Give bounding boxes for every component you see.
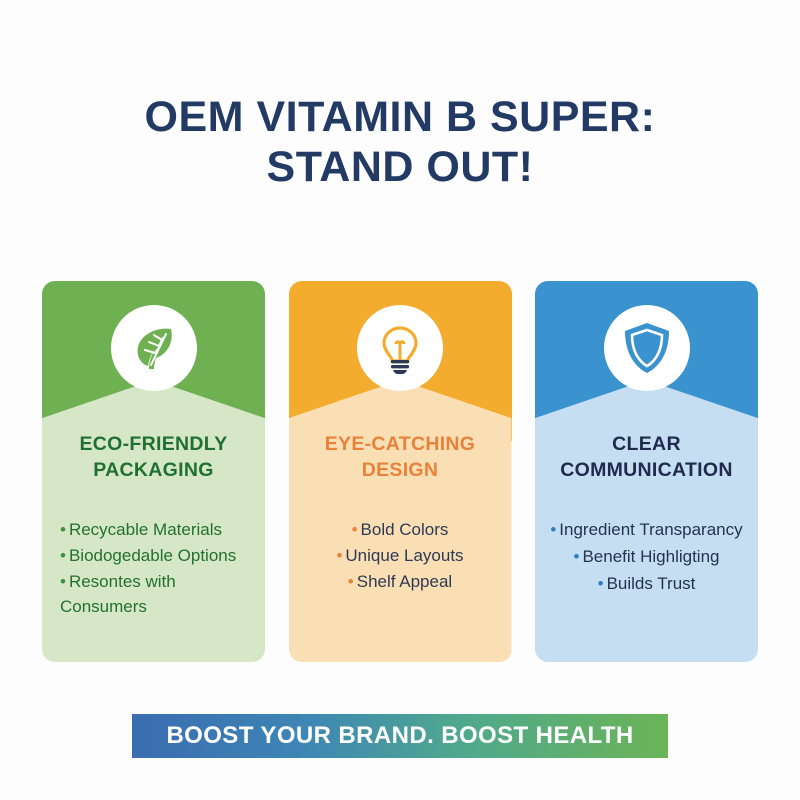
bullet-dot-icon: • [352, 520, 358, 539]
card-title-communication-line-1: Clear [612, 433, 681, 455]
bullet-dot-icon: • [574, 547, 580, 566]
card-bullet-list-design: •Bold Colors •Unique Layouts •Shelf Appe… [289, 517, 512, 595]
footer-cta-banner: Boost Your Brand. Boost Health [132, 714, 668, 758]
card-bullet-list-communication: •Ingredient Transparancy •Benefit Highli… [535, 517, 758, 598]
list-item: •Shelf Appeal [301, 569, 500, 594]
lightbulb-icon [357, 305, 443, 391]
card-title-eco-line-1: Eco-Friendly [79, 433, 227, 455]
bullet-text: Shelf Appeal [357, 572, 452, 591]
card-title-design-line-2: Design [362, 459, 439, 481]
bullet-text: Unique Layouts [345, 546, 463, 565]
list-item: •Biodogedable Options [60, 543, 253, 568]
list-item: •Benefit Highligting [547, 544, 746, 570]
list-item: •Unique Layouts [301, 543, 500, 568]
bullet-text: Resontes with Consumers [60, 572, 176, 616]
list-item: •Resontes with Consumers [60, 569, 253, 619]
feature-card-eye-catching-design: Eye-Catching Design •Bold Colors •Unique… [289, 281, 512, 662]
leaf-icon [111, 305, 197, 391]
page-title-line-1: OEM Vitamin B Super: [0, 92, 800, 142]
bullet-dot-icon: • [550, 520, 556, 539]
bullet-text: Builds Trust [607, 574, 696, 593]
bullet-dot-icon: • [598, 574, 604, 593]
page-title: OEM Vitamin B Super: Stand Out! [0, 92, 800, 192]
list-item: •Recycable Materials [60, 517, 253, 542]
bullet-text: Biodogedable Options [69, 546, 236, 565]
bullet-dot-icon: • [60, 520, 66, 539]
feature-card-eco-friendly-packaging: Eco-Friendly Packaging •Recycable Materi… [42, 281, 265, 662]
list-item: •Ingredient Transparancy [547, 517, 746, 543]
card-title-design: Eye-Catching Design [289, 431, 512, 483]
bullet-dot-icon: • [336, 546, 342, 565]
feature-card-clear-communication: Clear Communication •Ingredient Transpar… [535, 281, 758, 662]
bullet-dot-icon: • [60, 546, 66, 565]
card-title-design-line-1: Eye-Catching [325, 433, 476, 455]
card-title-communication-line-2: Communication [560, 459, 733, 481]
bullet-text: Bold Colors [361, 520, 449, 539]
list-item: •Bold Colors [301, 517, 500, 542]
bullet-text: Ingredient Transparancy [559, 520, 742, 539]
card-bullet-list-eco: •Recycable Materials •Biodogedable Optio… [42, 517, 265, 620]
card-title-eco-line-2: Packaging [93, 459, 213, 481]
bullet-text: Recycable Materials [69, 520, 222, 539]
shield-icon [604, 305, 690, 391]
bullet-dot-icon: • [60, 572, 66, 591]
bullet-dot-icon: • [348, 572, 354, 591]
list-item: •Builds Trust [547, 571, 746, 597]
infographic-poster: OEM Vitamin B Super: Stand Out! [0, 0, 800, 800]
footer-cta-text: Boost Your Brand. Boost Health [166, 722, 633, 750]
feature-card-row: Eco-Friendly Packaging •Recycable Materi… [42, 281, 758, 662]
card-title-eco: Eco-Friendly Packaging [42, 431, 265, 483]
bullet-text: Benefit Highligting [582, 547, 719, 566]
card-title-communication: Clear Communication [535, 431, 758, 483]
page-title-line-2: Stand Out! [0, 142, 800, 192]
